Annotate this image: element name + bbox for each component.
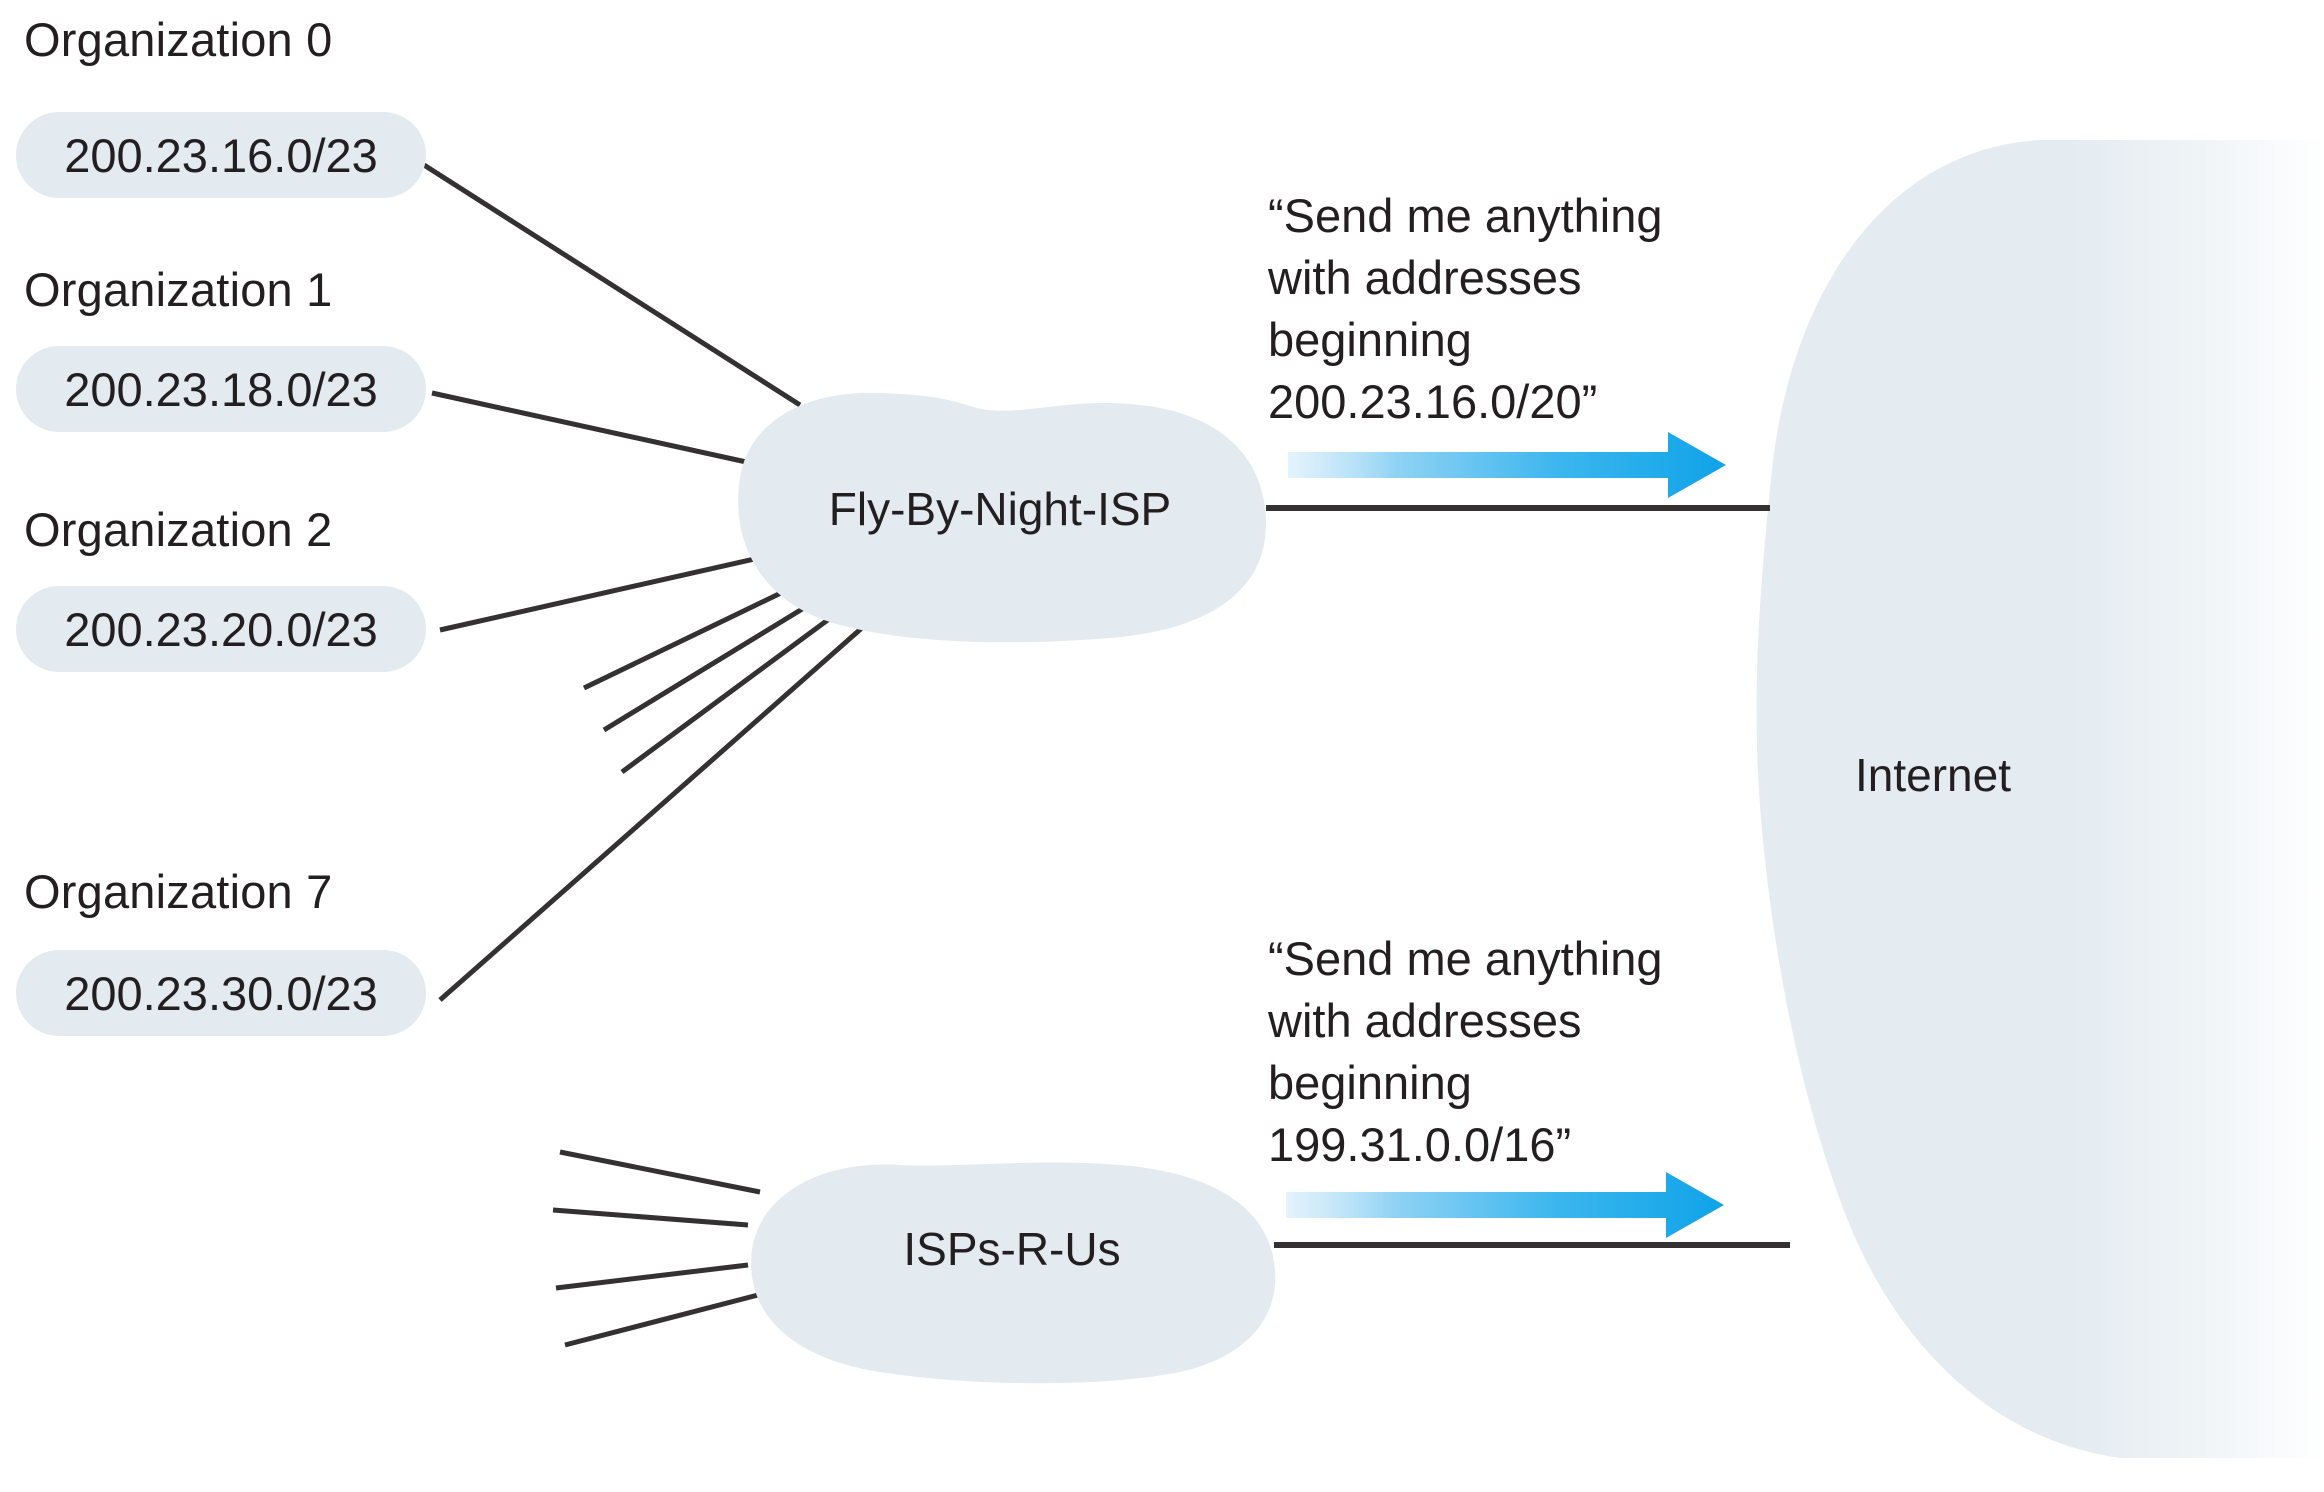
isps-r-us-stub-1 — [560, 1152, 760, 1192]
organization-2-prefix-pill[interactable]: 200.23.20.0/23 — [16, 586, 426, 672]
upper-advertisement-text: “Send me anything with addresses beginni… — [1268, 185, 1663, 433]
organization-7-title: Organization 7 — [24, 864, 332, 919]
organization-1-prefix-pill[interactable]: 200.23.18.0/23 — [16, 346, 426, 432]
diagram-canvas: Organization 0 200.23.16.0/23 Organizati… — [0, 0, 2324, 1492]
org-1-link — [432, 393, 760, 465]
isps-r-us-connector-lines — [553, 1152, 760, 1345]
organization-1-title: Organization 1 — [24, 262, 332, 317]
upper-advertisement-arrow — [1288, 432, 1726, 498]
internet-cloud-shape — [1757, 140, 2324, 1458]
org-0-link — [424, 165, 800, 405]
isps-r-us-label[interactable]: ISPs-R-Us — [752, 1222, 1272, 1276]
isps-r-us-stub-4 — [565, 1295, 758, 1345]
isps-r-us-stub-2 — [553, 1210, 748, 1225]
lower-advertisement-text: “Send me anything with addresses beginni… — [1268, 928, 1663, 1176]
fly-by-night-isp-label[interactable]: Fly-By-Night-ISP — [740, 482, 1260, 536]
internet-label[interactable]: Internet — [1855, 748, 2011, 802]
isps-r-us-stub-3 — [556, 1265, 748, 1288]
lower-advertisement-arrow — [1286, 1172, 1724, 1238]
organization-7-prefix-pill[interactable]: 200.23.30.0/23 — [16, 950, 426, 1036]
org-7-link — [440, 612, 880, 1000]
organization-0-prefix-pill[interactable]: 200.23.16.0/23 — [16, 112, 426, 198]
organization-0-title: Organization 0 — [24, 12, 332, 67]
organization-2-title: Organization 2 — [24, 502, 332, 557]
org-stub-link-3 — [622, 602, 852, 772]
